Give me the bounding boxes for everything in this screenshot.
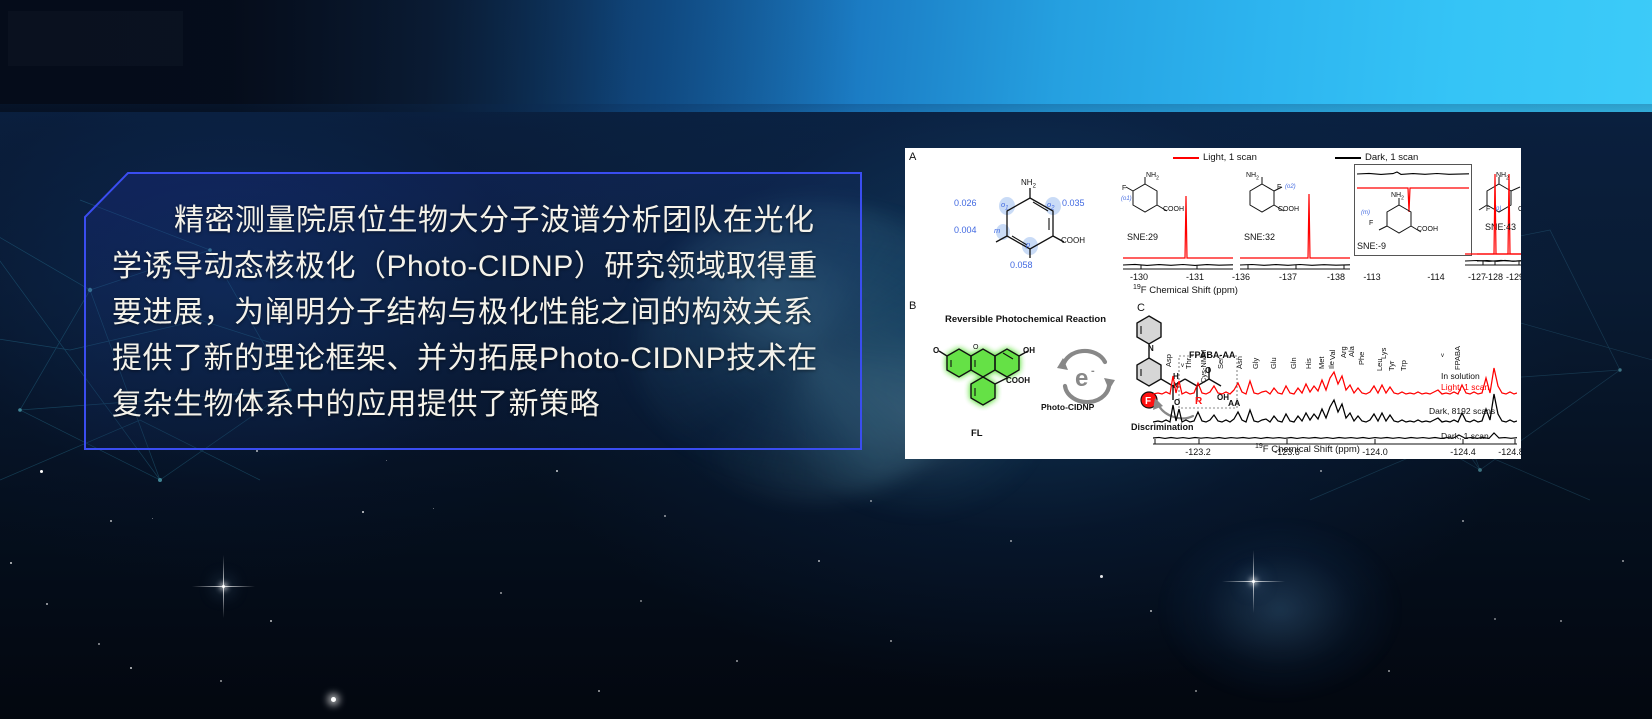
svg-text:e: e xyxy=(1075,365,1088,392)
headline-line-3: 要进展，为阐明分子结构与极化性能之间的构效关系 xyxy=(112,290,832,336)
svg-text:-: - xyxy=(1091,365,1095,377)
peak-label-ala: Ala xyxy=(1347,346,1356,357)
panel-a-axis-text: F Chemical Shift (ppm) xyxy=(1141,285,1238,296)
panel-c-axis-sup: 19 xyxy=(1255,443,1263,450)
panel-c-label-dark-8192: Dark, 8192 scans xyxy=(1429,406,1495,416)
headline-text: 精密测量院原位生物大分子波谱分析团队在光化 学诱导动态核极化（Photo-CID… xyxy=(84,172,862,450)
spectrum-m-tick-2: -114 xyxy=(1420,272,1452,282)
legend-swatch-dark xyxy=(1335,157,1361,159)
panel-c-label-in-solution: In solution xyxy=(1441,371,1480,381)
legend-label-dark: Dark, 1 scan xyxy=(1365,152,1418,163)
legend-label-light: Light, 1 scan xyxy=(1203,152,1257,163)
headline-line-4: 提供了新的理论框架、并为拓展Photo-CIDNP技术在 xyxy=(112,336,832,382)
core-mol-pos-o1: o1 xyxy=(1001,200,1009,212)
spectrum-o1-tick-1: -130 xyxy=(1123,272,1155,282)
spectrum-p-tick-3: -129 xyxy=(1499,272,1521,282)
panel-a-axis-sup: 19 xyxy=(1133,284,1141,291)
hyperfine-o1: 0.026 xyxy=(954,198,977,208)
panel-b-photocidnp-label: Photo-CIDNP xyxy=(1041,402,1094,412)
spectrum-o2-tick-2: -137 xyxy=(1272,272,1304,282)
spectrum-o1-pos-tag: (o1) xyxy=(1121,196,1132,202)
legend-item-light: Light, 1 scan xyxy=(1173,152,1257,163)
spectrum-m-pos-tag: (m) xyxy=(1361,210,1370,216)
core-mol-cooh: COOH xyxy=(1061,236,1085,245)
core-mol-pos-m: m xyxy=(994,226,1000,235)
core-mol-pos-o2: o2 xyxy=(1047,200,1055,212)
fl-hydroxyl: OH xyxy=(1023,346,1035,355)
headline-line-1: 精密测量院原位生物大分子波谱分析团队在光化 xyxy=(112,198,832,244)
panel-a-axis-caption: 19F Chemical Shift (ppm) xyxy=(1133,284,1238,296)
peak-label-val: Val xyxy=(1328,350,1337,360)
spectrum-o1-tick-2: -131 xyxy=(1179,272,1211,282)
slide-canvas: 精密测量院原位生物大分子波谱分析团队在光化 学诱导动态核极化（Photo-CID… xyxy=(0,0,1652,719)
spectrum-o1-cooh: COOH xyxy=(1163,206,1184,213)
panel-c-tick-5: -124.8 xyxy=(1491,447,1521,457)
panel-c-tick-1: -123.2 xyxy=(1178,447,1218,457)
spectrum-o2-sne: SNE:32 xyxy=(1244,232,1275,242)
spectrum-m-nh2: NH2 xyxy=(1391,192,1404,201)
spectrum-m-f: F xyxy=(1369,220,1373,227)
spectrum-o2-plot xyxy=(1240,166,1350,271)
header-band-fade xyxy=(0,104,1652,130)
spectrum-o1-plot xyxy=(1123,166,1233,271)
spectrum-o1-f: F xyxy=(1122,185,1126,192)
fl-oxygen-left: O xyxy=(933,346,939,355)
svg-text:F: F xyxy=(1145,396,1151,407)
spectrum-o2-tick-1: -136 xyxy=(1225,272,1257,282)
research-figure: A Light, 1 scan Dark, 1 scan xyxy=(905,148,1521,459)
spectrum-m-tick-1: -113 xyxy=(1356,272,1388,282)
panel-c-axis-text: F Chemical Shift (ppm) xyxy=(1263,444,1360,455)
panel-c-tick-3: -124.0 xyxy=(1355,447,1395,457)
hyperfine-m: 0.004 xyxy=(954,225,977,235)
spectrum-o1-sne: SNE:29 xyxy=(1127,232,1158,242)
header-band xyxy=(0,0,1652,112)
spectrum-m-sne: SNE:-9 xyxy=(1357,241,1386,251)
panel-c-label-dark-1: Dark, 1 scan xyxy=(1441,431,1489,441)
legend-swatch-light xyxy=(1173,157,1199,159)
headline-line-5: 复杂生物体系中的应用提供了新策略 xyxy=(112,382,832,428)
panel-c-label-light: Light, 1 scan xyxy=(1441,382,1489,392)
hyperfine-p: 0.058 xyxy=(1010,260,1033,270)
legend-item-dark: Dark, 1 scan xyxy=(1335,152,1418,163)
headline-callout-box: 精密测量院原位生物大分子波谱分析团队在光化 学诱导动态核极化（Photo-CID… xyxy=(84,172,862,450)
spectrum-o2-f: F xyxy=(1277,184,1281,191)
fpaba-aa-product-label: FPABA-AA xyxy=(1189,350,1235,360)
panel-c-axis-caption: 19F Chemical Shift (ppm) xyxy=(1255,443,1360,455)
peak-label-phe: Phe xyxy=(1357,352,1366,365)
fl-xanthene-oxygen: O xyxy=(973,344,978,351)
peak-marker-v: v xyxy=(1441,353,1444,359)
headline-line-2: 学诱导动态核极化（Photo-CIDNP）研究领域取得重 xyxy=(112,244,832,290)
spectrum-p-plot-right xyxy=(1465,166,1521,271)
spectrum-o2-tick-3: -138 xyxy=(1320,272,1352,282)
fl-cooh: COOH xyxy=(1006,376,1030,385)
panel-a-letter: A xyxy=(909,151,916,163)
fluorescein-structure xyxy=(929,328,1053,428)
hyperfine-o2: 0.035 xyxy=(1062,198,1085,208)
spectrum-o1-nh2: NH2 xyxy=(1146,172,1159,181)
panel-c-tick-4: -124.4 xyxy=(1443,447,1483,457)
spectrum-o2-pos-tag: (o2) xyxy=(1285,184,1296,190)
fpaba-nitrogen: N xyxy=(1148,344,1154,353)
peak-label-lys: Lys xyxy=(1379,348,1388,359)
spectrum-o2-nh2: NH2 xyxy=(1246,172,1259,181)
panel-c-letter: C xyxy=(1137,302,1145,314)
photo-cidnp-cycle-arrows: e - xyxy=(1053,348,1119,404)
core-mol-pos-p: p xyxy=(1026,240,1030,249)
panel-b-title: Reversible Photochemical Reaction xyxy=(945,314,1106,325)
panel-b-letter: B xyxy=(909,300,916,312)
spectrum-o2-cooh: COOH xyxy=(1278,206,1299,213)
core-mol-nh2: NH2 xyxy=(1021,178,1036,190)
header-placeholder-block xyxy=(8,11,183,66)
panel-b-fl-label: FL xyxy=(971,428,983,439)
